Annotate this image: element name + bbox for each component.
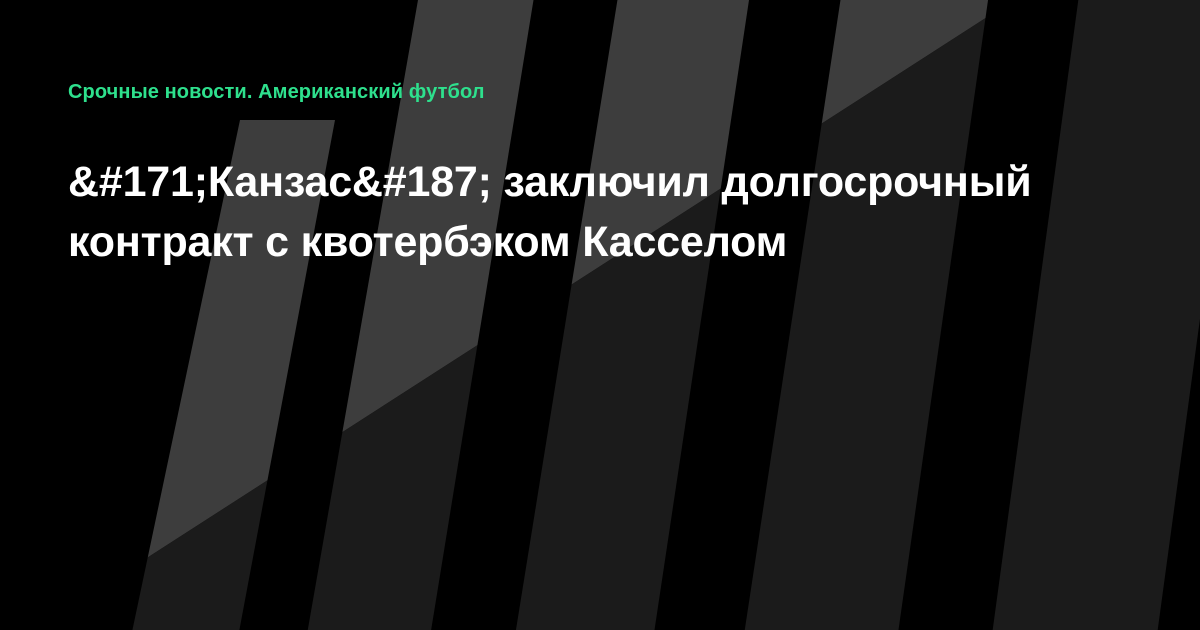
card-content: Срочные новости. Американский футбол &#1… <box>68 0 1078 630</box>
category-kicker: Срочные новости. Американский футбол <box>68 79 485 105</box>
news-card: Срочные новости. Американский футбол &#1… <box>0 0 1200 630</box>
headline: &#171;Канзас&#187; заключил долгосрочный… <box>68 152 1078 272</box>
